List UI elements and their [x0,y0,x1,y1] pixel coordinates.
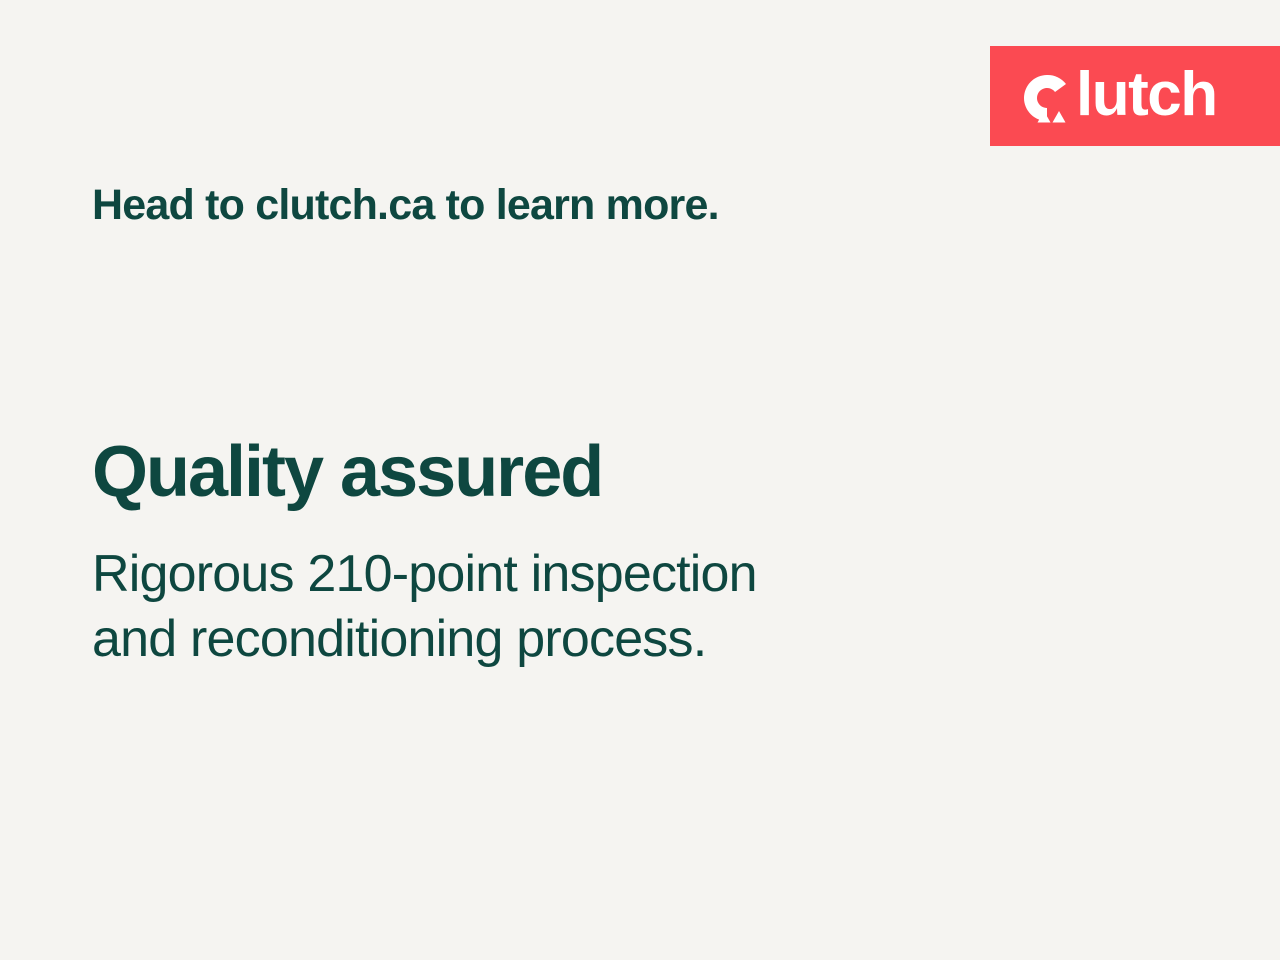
slide-canvas: lutch Head to clutch.ca to learn more. Q… [0,0,1280,960]
main-content: Quality assured Rigorous 210-point inspe… [92,436,1072,672]
clutch-wordmark: lutch [1022,66,1217,126]
body-copy: Rigorous 210-point inspection and recond… [92,542,1072,672]
body-copy-line-2: and reconditioning process. [92,607,1072,672]
body-copy-line-1: Rigorous 210-point inspection [92,542,1072,607]
clutch-c-icon [1022,73,1072,123]
eyebrow-text: Head to clutch.ca to learn more. [92,180,719,232]
clutch-logo-banner[interactable]: lutch [990,46,1280,146]
clutch-wordmark-text: lutch [1076,64,1217,126]
page-title: Quality assured [92,436,1072,508]
